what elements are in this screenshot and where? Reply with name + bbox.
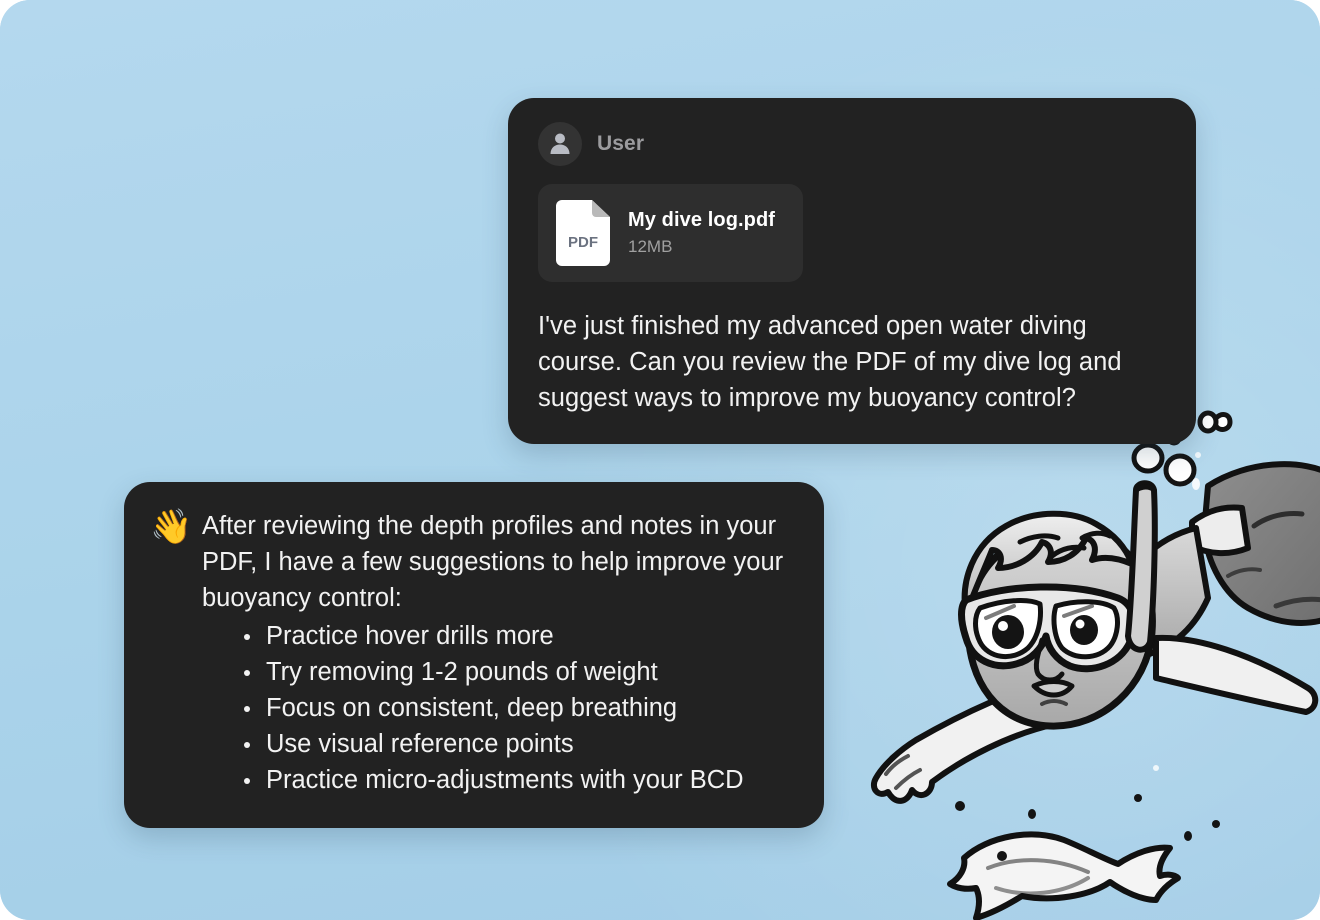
list-item: Use visual reference points <box>242 726 794 762</box>
assistant-message-bubble: 👋 After reviewing the depth profiles and… <box>124 482 824 828</box>
attachment-chip[interactable]: PDF My dive log.pdf 12MB <box>538 184 803 282</box>
attachment-filename: My dive log.pdf <box>628 209 775 232</box>
list-item: Practice hover drills more <box>242 618 794 654</box>
list-item: Focus on consistent, deep breathing <box>242 690 794 726</box>
attachment-filesize: 12MB <box>628 237 775 257</box>
list-item: Practice micro-adjustments with your BCD <box>242 762 794 798</box>
user-author-name: User <box>597 132 644 156</box>
list-item: Try removing 1-2 pounds of weight <box>242 654 794 690</box>
attachment-meta: My dive log.pdf 12MB <box>628 209 775 257</box>
user-message-text: I've just finished my advanced open wate… <box>538 308 1166 416</box>
app-canvas: User PDF My dive log.pdf 12MB I've just … <box>0 0 1320 920</box>
suggestion-list: Practice hover drills more Try removing … <box>202 618 794 798</box>
assistant-message-body: After reviewing the depth profiles and n… <box>202 508 794 798</box>
pdf-file-icon: PDF <box>556 200 610 266</box>
assistant-paragraph: After reviewing the depth profiles and n… <box>202 508 794 616</box>
svg-text:PDF: PDF <box>568 234 598 251</box>
snorkeler-underwater-illustration <box>856 428 1320 920</box>
person-avatar-icon <box>538 122 582 166</box>
user-message-bubble: User PDF My dive log.pdf 12MB I've just … <box>508 98 1196 444</box>
waving-hand-emoji: 👋 <box>150 508 202 546</box>
user-message-header: User <box>538 122 1166 166</box>
assistant-intro-row: 👋 After reviewing the depth profiles and… <box>150 508 794 798</box>
